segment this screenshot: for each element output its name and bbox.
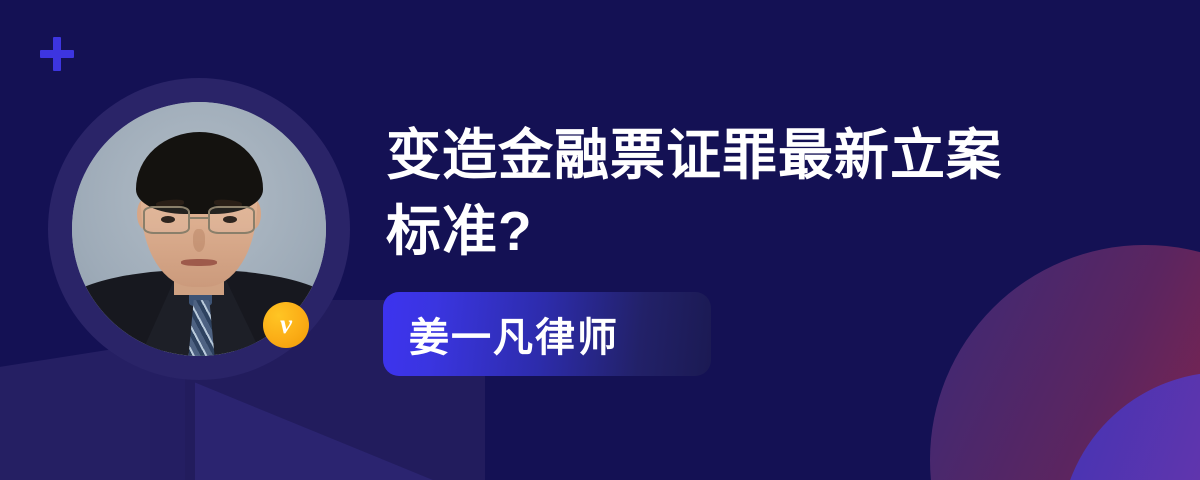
background-circle-inner — [1060, 372, 1200, 480]
lawyer-name-button[interactable]: 姜一凡律师 — [383, 292, 711, 376]
portrait-nose — [193, 229, 206, 252]
glasses-lens-right — [208, 206, 255, 234]
background-circle-outer — [930, 245, 1200, 480]
verified-badge-glyph: v — [280, 311, 292, 338]
glasses-bridge — [190, 217, 208, 219]
portrait-mouth — [181, 259, 217, 265]
verified-badge-icon: v — [263, 302, 309, 348]
plus-icon — [40, 37, 74, 71]
page-title: 变造金融票证罪最新立案 标准? — [386, 118, 1146, 270]
headline-container: 变造金融票证罪最新立案 标准? — [386, 118, 1146, 270]
glasses-lens-left — [143, 206, 190, 234]
lawyer-qa-banner: v 变造金融票证罪最新立案 标准? 姜一凡律师 — [0, 0, 1200, 480]
